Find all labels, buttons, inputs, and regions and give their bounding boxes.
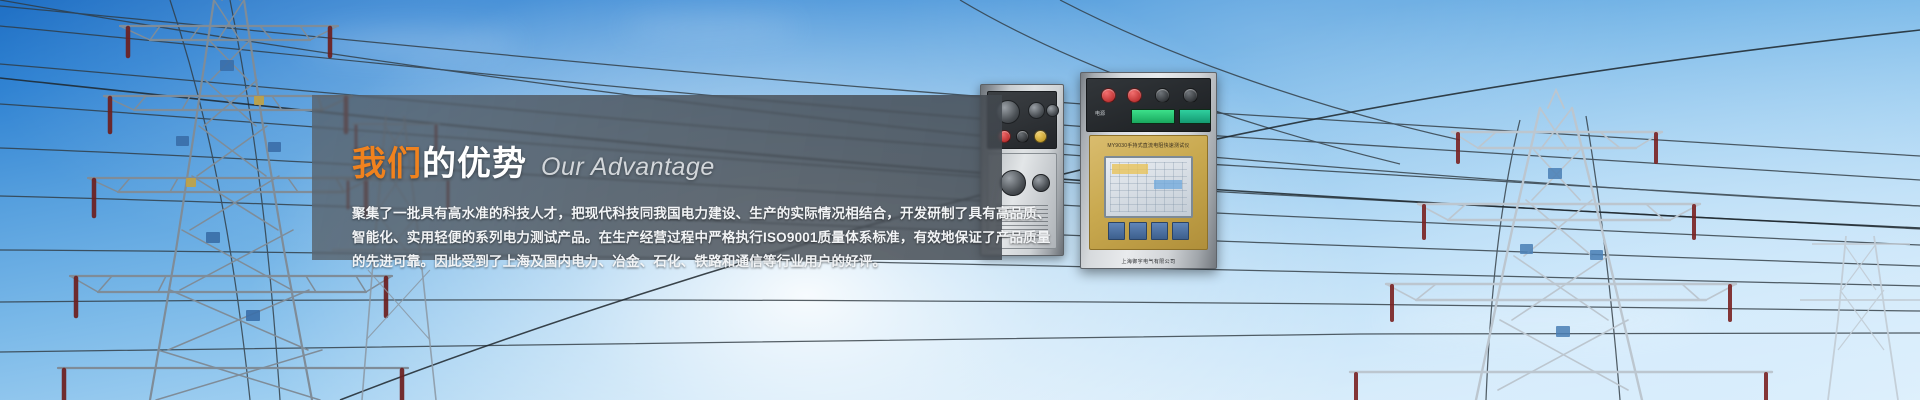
page-title: 我们的优势	[352, 144, 527, 184]
body-line: 智能化、实用轻便的系列电力测试产品。在生产经营过程中严格执行ISO9001质量体…	[352, 226, 992, 250]
banner-heading: 我们的优势 Our Advantage	[352, 138, 992, 184]
instrument-b-model-label: MY9030手持式直流电阻快速测试仪	[1090, 142, 1207, 149]
instrument-b-lcd-screen	[1104, 156, 1193, 218]
instrument-b-switch-label: 电源	[1095, 110, 1105, 117]
terminal-post-yellow	[1034, 130, 1047, 143]
screen-highlight	[1154, 180, 1182, 189]
keypad-button[interactable]	[1129, 222, 1146, 240]
advantage-banner: 电源 MY9030手持式直流电阻快速测试仪 上海御宇电气有限公司	[0, 0, 1920, 400]
body-line: 的先进可靠。因此受到了上海及国内电力、冶金、石化、铁路和通信等行业用户的好评。	[352, 250, 992, 274]
instrument-b-keypad	[1108, 223, 1189, 239]
status-display-secondary	[1179, 109, 1211, 124]
rotary-knob-icon	[1000, 170, 1026, 196]
keypad-button[interactable]	[1151, 222, 1168, 240]
terminal-post-black	[1155, 88, 1170, 103]
terminal-post-black	[1016, 130, 1029, 143]
keypad-button[interactable]	[1172, 222, 1189, 240]
terminal-post-red	[1101, 88, 1116, 103]
banner-content: 我们的优势 Our Advantage 聚集了一批具有高水准的科技人才，把现代科…	[352, 138, 992, 274]
title-english-subtitle: Our Advantage	[541, 152, 715, 184]
instrument-b-front-face: MY9030手持式直流电阻快速测试仪	[1089, 135, 1208, 250]
terminal-post-red	[1127, 88, 1142, 103]
rotary-knob-icon	[1032, 174, 1050, 192]
title-rest: 的优势	[422, 145, 527, 183]
power-test-instrument-large: 电源 MY9030手持式直流电阻快速测试仪 上海御宇电气有限公司	[1080, 72, 1217, 269]
status-display	[1131, 109, 1175, 124]
banner-body-copy: 聚集了一批具有高水准的科技人才，把现代科技同我国电力建设、生产的实际情况相结合，…	[352, 202, 992, 274]
title-highlight: 我们	[352, 145, 422, 183]
keypad-button[interactable]	[1108, 222, 1125, 240]
screen-highlight	[1112, 164, 1148, 174]
rotary-knob-icon	[1028, 102, 1045, 119]
instrument-b-terminal-panel: 电源	[1086, 78, 1211, 132]
terminal-post-black	[1183, 88, 1198, 103]
body-line: 聚集了一批具有高水准的科技人才，把现代科技同我国电力建设、生产的实际情况相结合，…	[352, 202, 992, 226]
instrument-b-brand-label: 上海御宇电气有限公司	[1081, 258, 1216, 265]
rotary-knob-icon	[1046, 104, 1059, 117]
